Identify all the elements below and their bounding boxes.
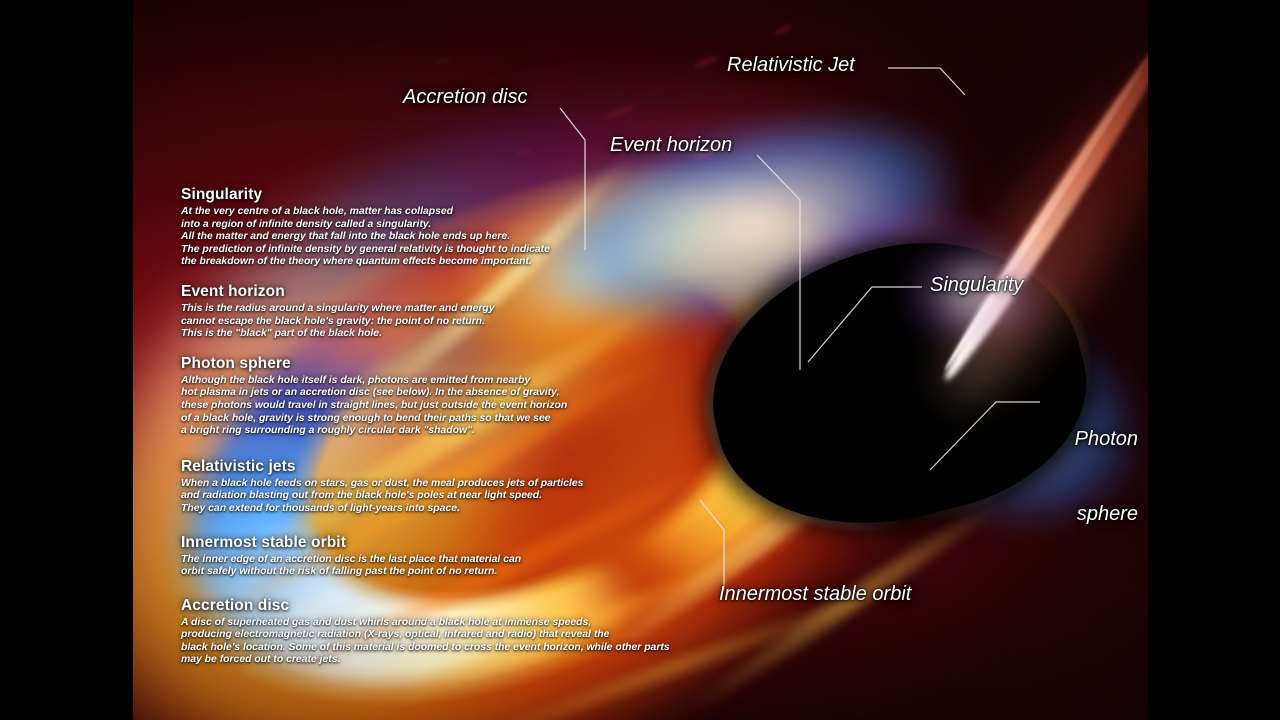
annotation-heading: Innermost stable orbit (181, 534, 701, 552)
callout-photon-sphere: Photon sphere (1046, 377, 1138, 577)
callout-relativistic-jet: Relativistic Jet (727, 54, 855, 77)
annotation-block-accretion-disc: Accretion disc A disc of superheated gas… (181, 597, 701, 667)
annotation-heading: Photon sphere (181, 355, 701, 373)
annotation-panel: Singularity At the very centre of a blac… (181, 186, 701, 681)
annotation-heading: Relativistic jets (181, 458, 701, 476)
annotation-body: The inner edge of an accretion disc is t… (181, 554, 701, 579)
annotation-body: At the very centre of a black hole, matt… (181, 206, 701, 269)
annotation-body: A disc of superheated gas and dust whirl… (181, 617, 701, 667)
annotation-body: When a black hole feeds on stars, gas or… (181, 478, 701, 516)
annotation-block-singularity: Singularity At the very centre of a blac… (181, 186, 701, 269)
callout-event-horizon: Event horizon (610, 134, 732, 157)
letterbox-right (1148, 0, 1280, 720)
callout-singularity: Singularity (930, 274, 1023, 297)
letterbox-left (0, 0, 133, 720)
callout-accretion-disc: Accretion disc (403, 86, 528, 109)
annotation-heading: Accretion disc (181, 597, 701, 615)
annotation-block-innermost-stable-orbit: Innermost stable orbit The inner edge of… (181, 534, 701, 579)
annotation-block-photon-sphere: Photon sphere Although the black hole it… (181, 355, 701, 438)
callout-photon-sphere-line2: sphere (1046, 502, 1138, 527)
annotation-body: Although the black hole itself is dark, … (181, 375, 701, 438)
annotation-body: This is the radius around a singularity … (181, 303, 701, 341)
annotation-block-event-horizon: Event horizon This is the radius around … (181, 283, 701, 341)
annotation-heading: Singularity (181, 186, 701, 204)
illustration-stage: Singularity At the very centre of a blac… (0, 0, 1280, 720)
callout-innermost-stable-orbit: Innermost stable orbit (719, 583, 911, 606)
annotation-block-relativistic-jets: Relativistic jets When a black hole feed… (181, 458, 701, 516)
annotation-heading: Event horizon (181, 283, 701, 301)
callout-photon-sphere-line1: Photon (1046, 427, 1138, 452)
